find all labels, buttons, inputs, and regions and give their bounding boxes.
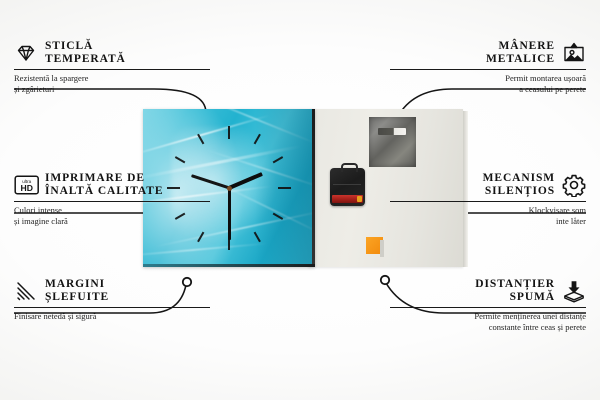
connector-dot-foam-spacer xyxy=(381,276,389,284)
ultra-hd-icon: ultra HD xyxy=(14,173,38,197)
feature-description: Culori intense și imagine clară xyxy=(14,205,210,226)
picture-hanger-icon xyxy=(562,41,586,65)
clock-tick xyxy=(278,187,291,189)
feature-metal-handles: MÂNERE METALICE Permit montarea ușoară a… xyxy=(390,40,586,94)
feature-rule xyxy=(14,201,210,202)
polished-edges-icon xyxy=(14,279,38,303)
clock-tick xyxy=(254,134,261,145)
feature-title: MARGINI ȘLEFUITE xyxy=(45,278,109,304)
feature-title: STICLĂ TEMPERATĂ xyxy=(45,40,126,66)
battery xyxy=(332,195,363,203)
feature-rule xyxy=(390,201,586,202)
feature-silent-mechanism: MECANISM SILENȚIOS Klockvisare som inte … xyxy=(390,172,586,226)
clock-minute-hand xyxy=(228,188,231,240)
clock-hour-hand xyxy=(228,172,263,190)
feature-rule xyxy=(390,69,586,70)
feature-description: Finisare netedă și sigură xyxy=(14,311,210,322)
feature-title: MÂNERE METALICE xyxy=(486,40,555,66)
feature-rule xyxy=(390,307,586,308)
clock-tick xyxy=(273,213,284,220)
feature-tempered-glass: STICLĂ TEMPERATĂ Rezistentă la spargere … xyxy=(14,40,210,94)
clock-tick xyxy=(197,134,204,145)
clock-tick xyxy=(197,232,204,243)
glass-edge-right xyxy=(312,109,315,267)
clock-tick xyxy=(254,232,261,243)
feature-description: Permit montarea ușoară a ceasului pe per… xyxy=(390,73,586,94)
foam-spacer-pad xyxy=(366,237,383,254)
feature-title: IMPRIMARE DE ÎNALTĂ CALITATE xyxy=(45,172,163,198)
glass-edge-bottom xyxy=(143,264,315,267)
gear-icon xyxy=(562,173,586,197)
clock-tick xyxy=(175,156,186,163)
mechanism-hook xyxy=(341,163,358,172)
clock-tick xyxy=(228,126,230,139)
feature-rule xyxy=(14,69,210,70)
feature-description: Permite menținerea unei distanțe constan… xyxy=(390,311,586,332)
mechanism-seam xyxy=(333,184,361,185)
hanger-slot xyxy=(378,128,406,135)
svg-text:HD: HD xyxy=(20,183,32,193)
feature-description: Klockvisare som inte låter xyxy=(390,205,586,226)
feature-high-quality-print: ultra HD IMPRIMARE DE ÎNALTĂ CALITATE Cu… xyxy=(14,172,210,226)
foam-spacer-icon xyxy=(562,279,586,303)
feature-rule xyxy=(14,307,210,308)
clock-center-cap xyxy=(227,186,232,191)
feature-title: MECANISM SILENȚIOS xyxy=(483,172,555,198)
metal-hanger-plate xyxy=(369,117,416,167)
feature-foam-spacer: DISTANȚIER SPUMĂ Permite menținerea unei… xyxy=(390,278,586,332)
diamond-icon xyxy=(14,41,38,65)
clock-tick xyxy=(273,156,284,163)
feature-description: Rezistentă la spargere și zgârieturi xyxy=(14,73,210,94)
infographic-canvas: STICLĂ TEMPERATĂ Rezistentă la spargere … xyxy=(0,0,600,400)
feature-title: DISTANȚIER SPUMĂ xyxy=(475,278,555,304)
feature-polished-edges: MARGINI ȘLEFUITE Finisare netedă și sigu… xyxy=(14,278,210,322)
clock-mechanism xyxy=(330,168,365,206)
